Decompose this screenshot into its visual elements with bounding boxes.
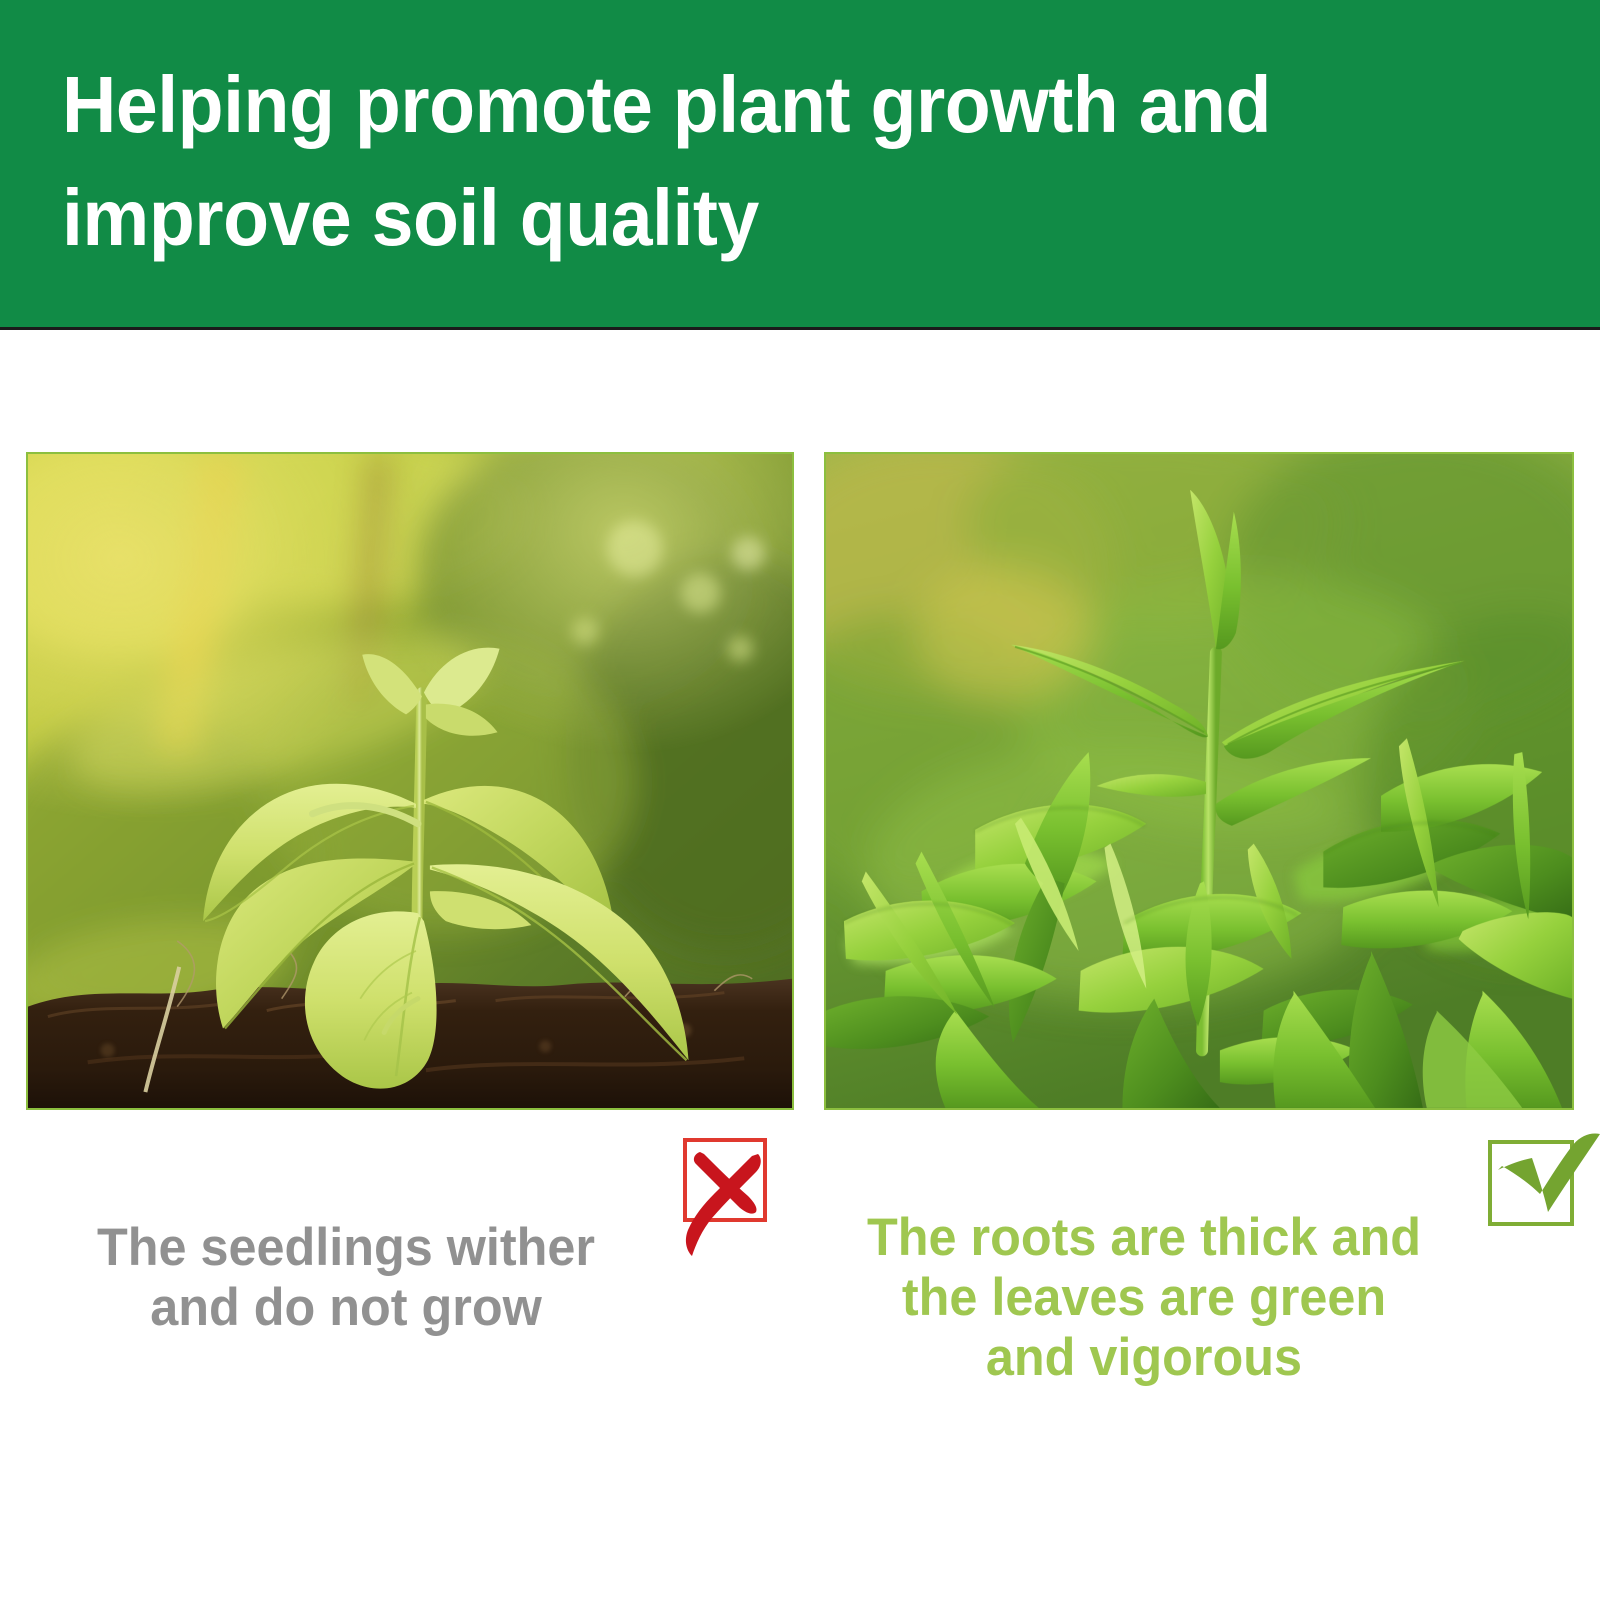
- caption-negative: The seedlings wither and do not grow: [42, 1218, 650, 1338]
- header-banner: Helping promote plant growth and improve…: [0, 0, 1600, 327]
- photo-positive-tea-plant: [824, 452, 1574, 1110]
- caption-positive: The roots are thick and the leaves are g…: [840, 1208, 1448, 1388]
- seedling-illustration: [28, 454, 792, 1108]
- red-cross-icon: [660, 1120, 792, 1256]
- tea-plant-illustration: [826, 454, 1572, 1108]
- page-title: Helping promote plant growth and improve…: [62, 48, 1397, 274]
- green-check-icon: [1468, 1120, 1600, 1250]
- banner-divider: [0, 327, 1600, 330]
- photo-negative-seedling: [26, 452, 794, 1110]
- green-check-glyph: [1468, 1120, 1600, 1250]
- red-cross-glyph: [660, 1120, 792, 1256]
